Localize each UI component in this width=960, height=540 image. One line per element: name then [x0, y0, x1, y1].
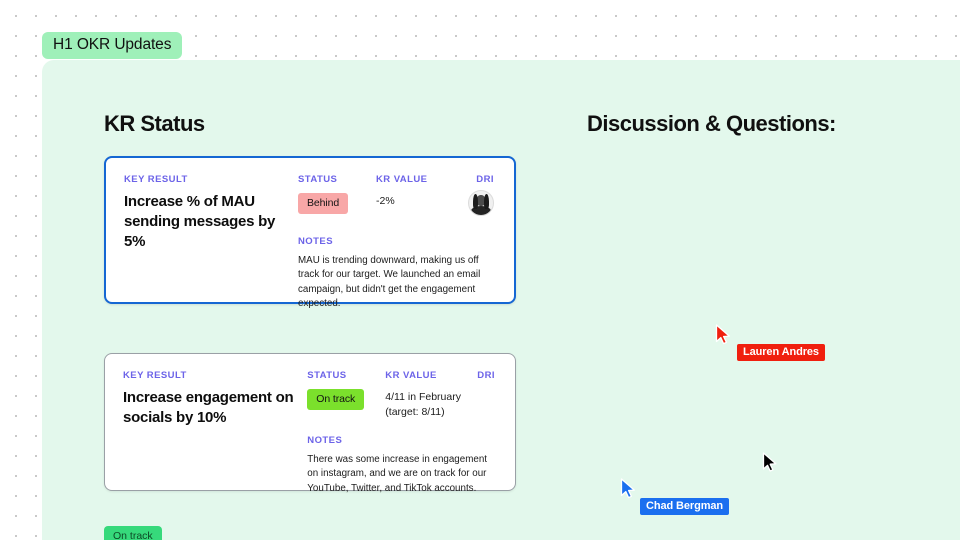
collaborator-cursor-chad: Chad Bergman — [620, 478, 637, 499]
kr-title: Increase % of MAU sending messages by 5% — [124, 192, 290, 252]
status-cell: STATUS On track — [307, 370, 385, 410]
kr-card-right: STATUS On track KR VALUE 4/11 in Februar… — [307, 370, 497, 476]
notes-block: NOTES There was some increase in engagem… — [307, 435, 497, 496]
dri-label: DRI — [468, 174, 494, 185]
collaborator-name-tag: Lauren Andres — [737, 344, 825, 361]
dri-cell: DRI — [477, 370, 497, 381]
kr-title: Increase engagement on socials by 10% — [123, 388, 299, 428]
clipped-status-badge[interactable]: On track — [104, 526, 162, 540]
kr-status-heading: KR Status — [104, 111, 205, 137]
kr-card-right: STATUS Behind KR VALUE -2% DRI — [298, 174, 496, 288]
kr-card-left: KEY RESULT Increase engagement on social… — [123, 370, 307, 476]
kr-value-label: KR VALUE — [385, 370, 477, 381]
kr-meta-row: STATUS On track KR VALUE 4/11 in Februar… — [307, 370, 497, 420]
notes-block: NOTES MAU is trending downward, making u… — [298, 236, 496, 311]
collaborator-name-tag: Chad Bergman — [640, 498, 729, 515]
pointer-cursor-icon — [715, 324, 732, 345]
key-result-label: KEY RESULT — [124, 174, 290, 185]
kr-value-label: KR VALUE — [376, 174, 468, 185]
status-cell: STATUS Behind — [298, 174, 376, 214]
kr-card[interactable]: KEY RESULT Increase engagement on social… — [104, 353, 516, 491]
kr-card[interactable]: KEY RESULT Increase % of MAU sending mes… — [104, 156, 516, 304]
kr-value-cell: KR VALUE -2% — [376, 174, 468, 209]
board-canvas[interactable]: KR Status Discussion & Questions: KEY RE… — [42, 60, 960, 540]
notes-text: There was some increase in engagement on… — [307, 453, 497, 496]
kr-card-left: KEY RESULT Increase % of MAU sending mes… — [124, 174, 298, 288]
board-title-chip[interactable]: H1 OKR Updates — [42, 32, 182, 59]
kr-value-cell: KR VALUE 4/11 in February (target: 8/11) — [385, 370, 477, 420]
pointer-cursor-icon — [620, 478, 637, 499]
dri-cell: DRI — [468, 174, 496, 221]
user-avatar-icon[interactable] — [468, 190, 494, 216]
kr-meta-row: STATUS Behind KR VALUE -2% DRI — [298, 174, 496, 221]
notes-text: MAU is trending downward, making us off … — [298, 254, 494, 312]
system-mouse-pointer — [762, 452, 778, 478]
dri-label: DRI — [477, 370, 495, 381]
status-badge[interactable]: Behind — [298, 193, 348, 214]
notes-label: NOTES — [307, 435, 497, 446]
key-result-label: KEY RESULT — [123, 370, 299, 381]
discussion-questions-heading: Discussion & Questions: — [587, 111, 836, 137]
status-label: STATUS — [307, 370, 385, 381]
kr-value: 4/11 in February (target: 8/11) — [385, 390, 477, 420]
kr-value: -2% — [376, 194, 468, 209]
status-badge[interactable]: On track — [307, 389, 364, 410]
status-label: STATUS — [298, 174, 376, 185]
pointer-cursor-icon — [762, 452, 778, 473]
notes-label: NOTES — [298, 236, 496, 247]
collaborator-cursor-lauren: Lauren Andres — [715, 324, 732, 345]
